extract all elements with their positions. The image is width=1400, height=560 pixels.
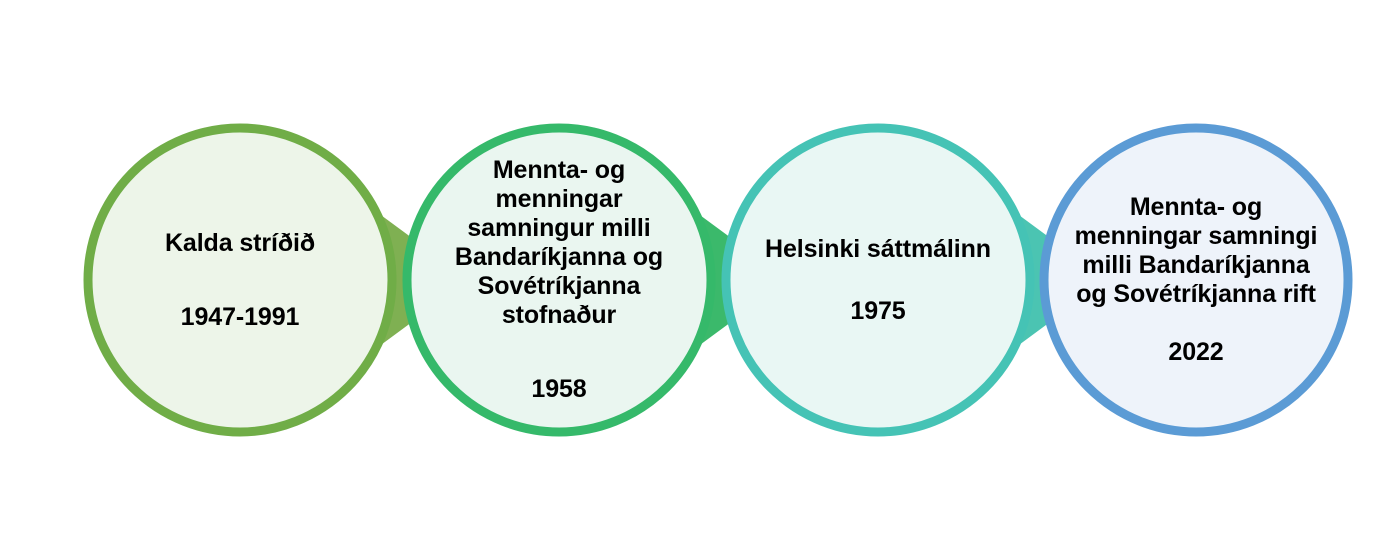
node-circle-2[interactable] [407, 128, 711, 432]
node-circle-1[interactable] [88, 128, 392, 432]
timeline-diagram: Kalda stríðið 1947-1991 Mennta- og menni… [0, 0, 1400, 560]
node-circle-3[interactable] [726, 128, 1030, 432]
timeline-canvas [0, 0, 1400, 560]
node-circle-4[interactable] [1044, 128, 1348, 432]
